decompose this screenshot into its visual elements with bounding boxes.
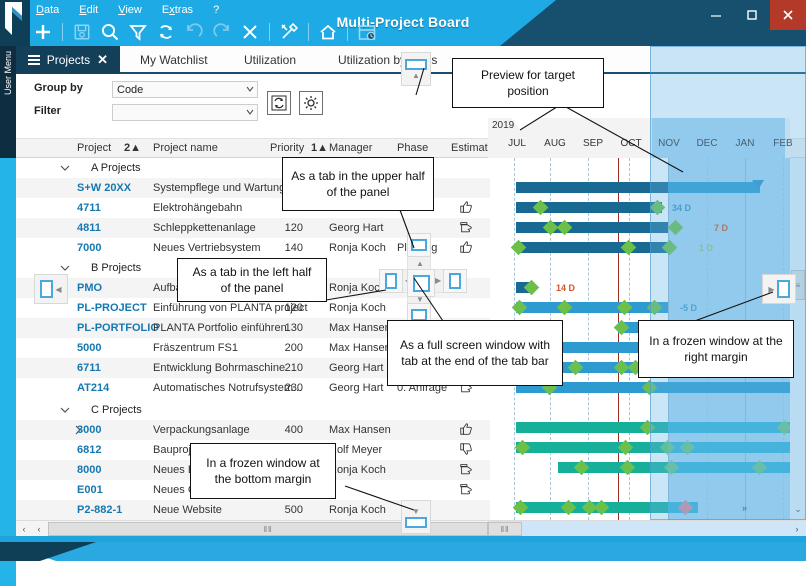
callout-tab-left-half: As a tab in the left half of the panel — [177, 258, 327, 302]
callout-preview-target: Preview for target position — [452, 58, 604, 108]
callout-tab-upper-half: As a tab in the upper half of the panel — [282, 157, 434, 211]
callout-leader-lines — [0, 0, 806, 561]
callout-full-screen-tab: As a full screen window with tab at the … — [387, 320, 563, 386]
callout-frozen-right: In a frozen window at the right margin — [638, 320, 794, 378]
callout-frozen-bottom: In a frozen window at the bottom margin — [190, 443, 336, 499]
